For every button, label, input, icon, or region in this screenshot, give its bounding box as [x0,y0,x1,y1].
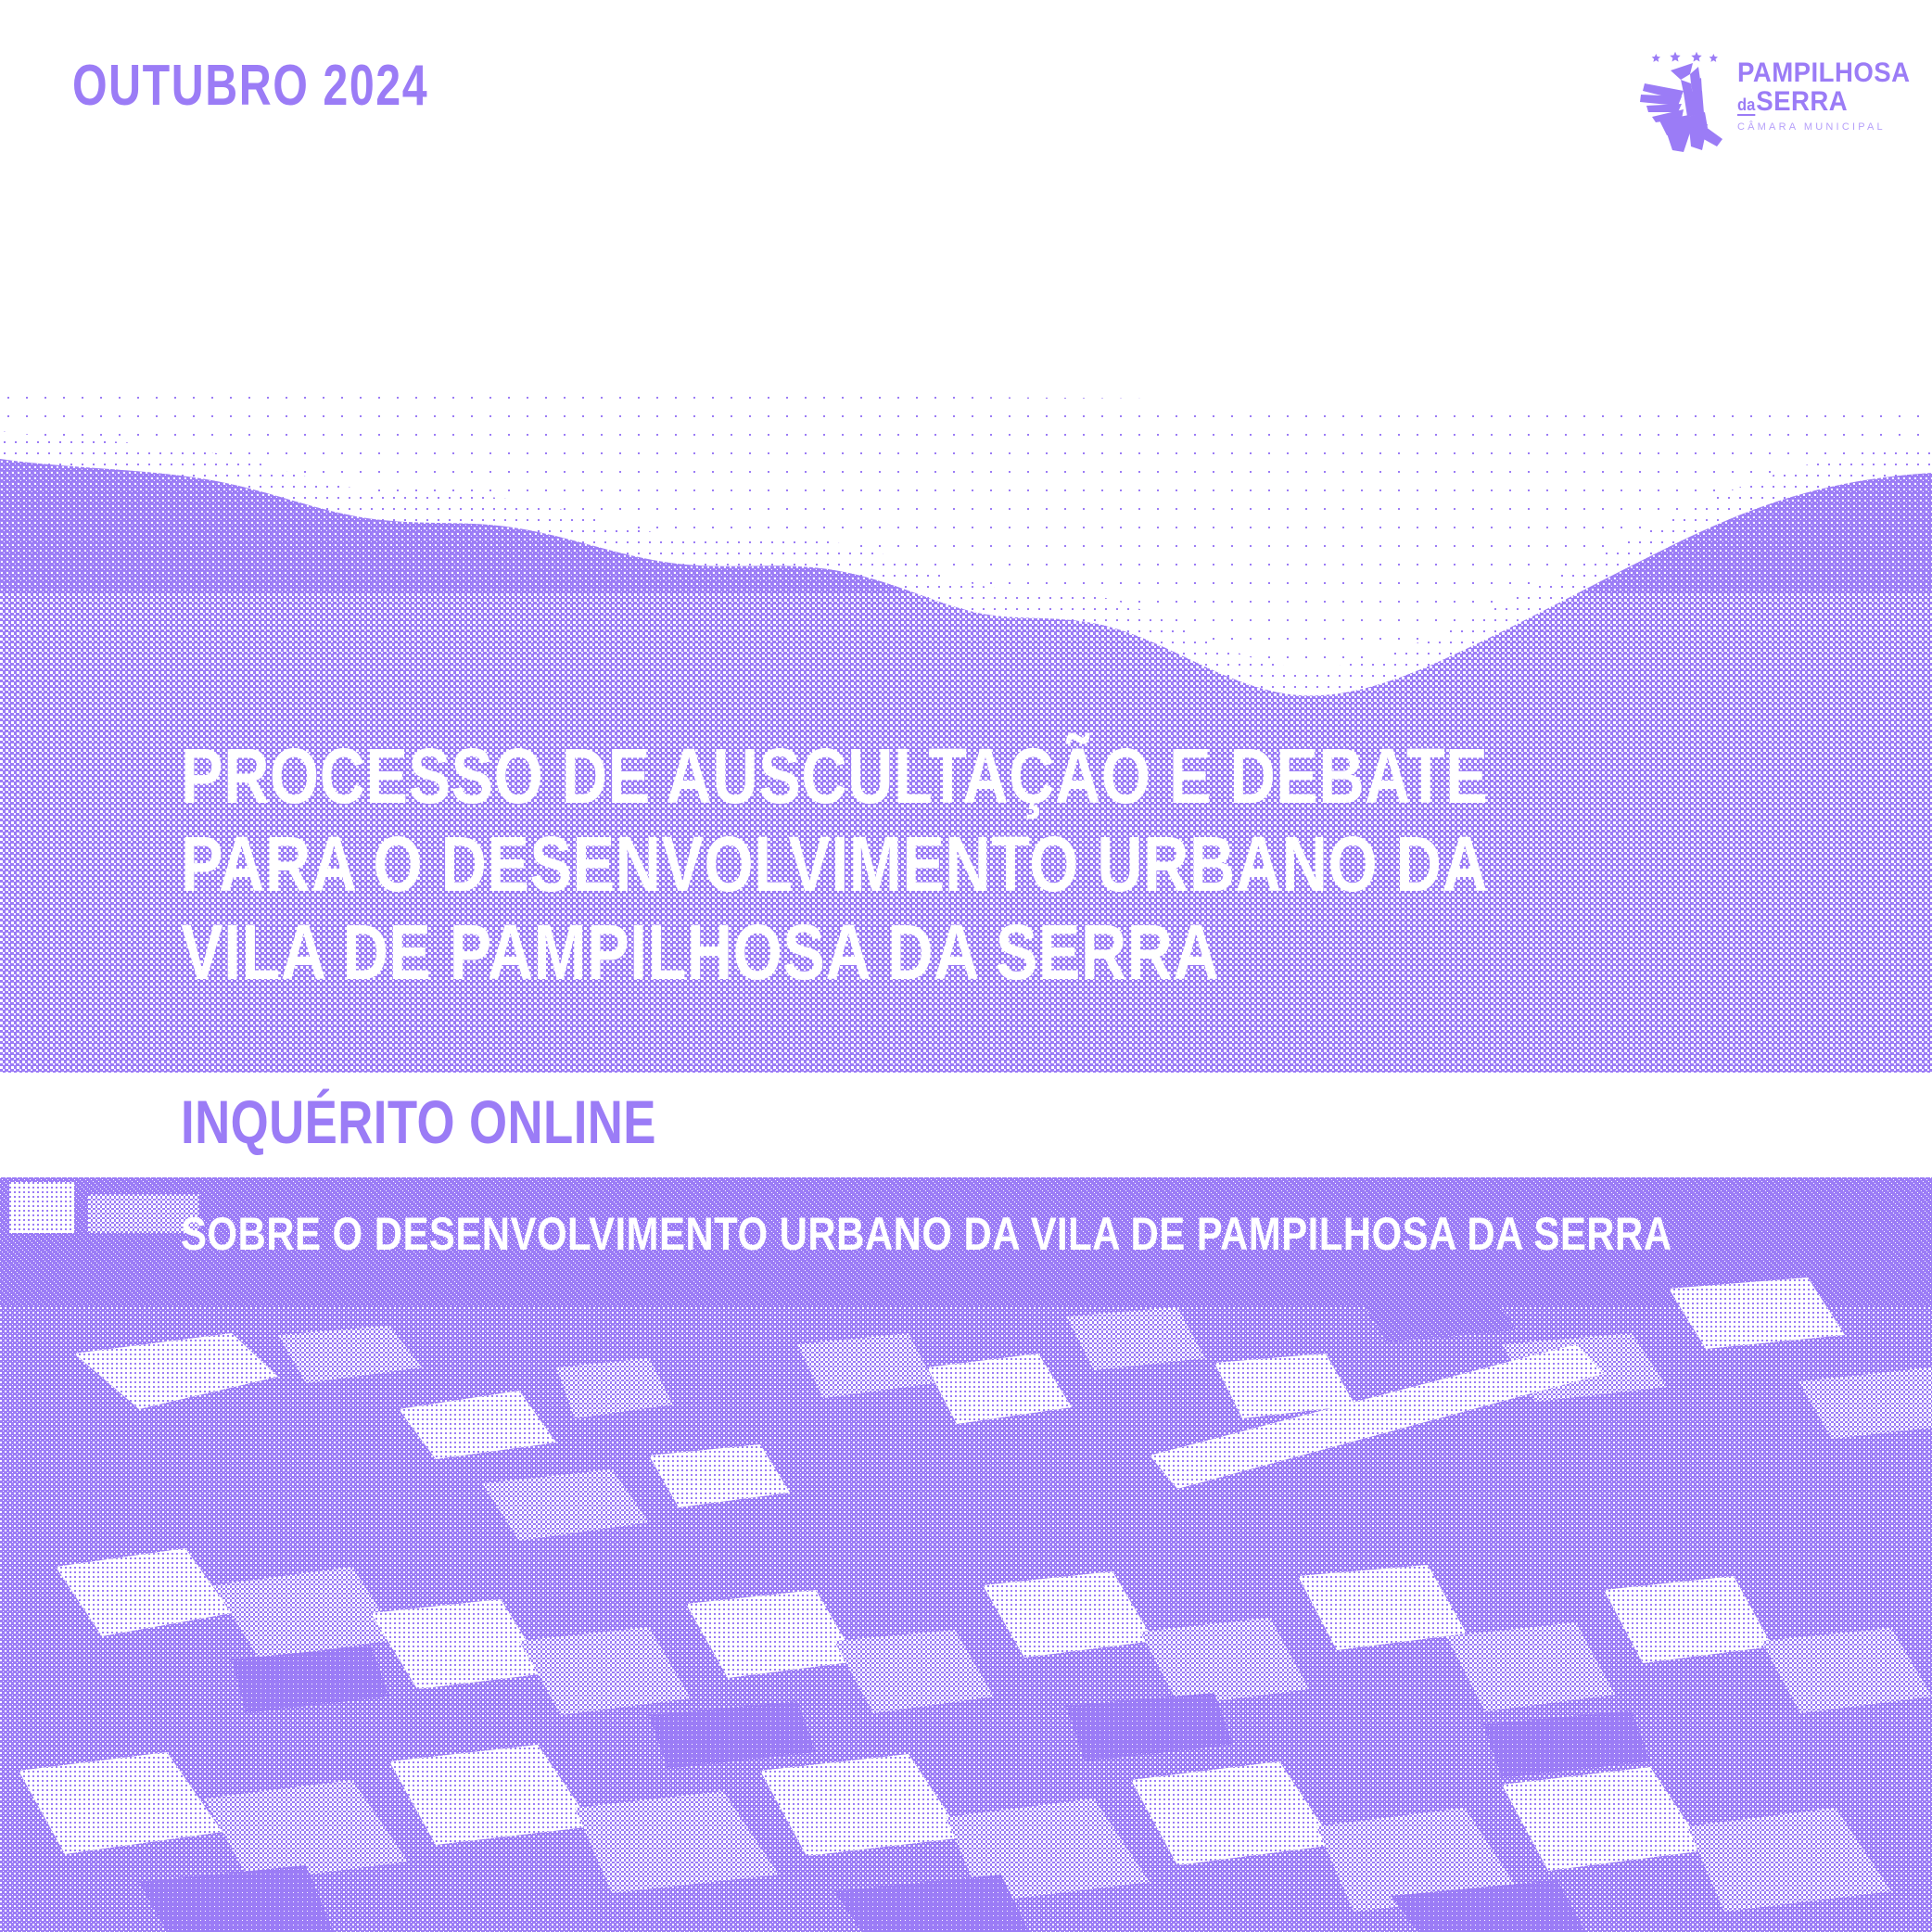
poster-title: PROCESSO DE AUSCULTAÇÃO E DEBATE PARA O … [181,732,1757,997]
subtitle-label: SOBRE O DESENVOLVIMENTO URBANO DA VILA D… [181,1211,1672,1257]
title-line-1: PROCESSO DE AUSCULTAÇÃO E DEBATE [181,732,1466,820]
date-label: OUTUBRO 2024 [72,57,428,115]
logo-subline: CÂMARA MUNICIPAL [1737,121,1876,133]
municipality-logo: PAMPILHOSA da SERRA CÂMARA MUNICIPAL [1635,35,1876,154]
dithered-village-aerial-photo-icon [0,1177,1932,1932]
inquerito-online-label: INQUÉRITO ONLINE [181,1091,656,1152]
logo-line-da-serra: da SERRA [1737,88,1865,117]
title-line-3: VILA DE PAMPILHOSA DA SERRA [181,909,1466,997]
logo-line-pampilhosa: PAMPILHOSA [1737,59,1865,88]
logo-serra: SERRA [1756,88,1848,117]
logo-wordmark: PAMPILHOSA da SERRA CÂMARA MUNICIPAL [1737,59,1876,133]
inquerito-strip: INQUÉRITO ONLINE [0,1073,1932,1177]
poster-canvas: OUTUBRO 2024 [0,0,1932,1932]
title-line-2: PARA O DESENVOLVIMENTO URBANO DA [181,820,1466,909]
village-photo-band [0,1177,1932,1932]
logo-da: da [1737,96,1755,116]
pampilhosa-origami-bird-icon [1635,35,1732,154]
